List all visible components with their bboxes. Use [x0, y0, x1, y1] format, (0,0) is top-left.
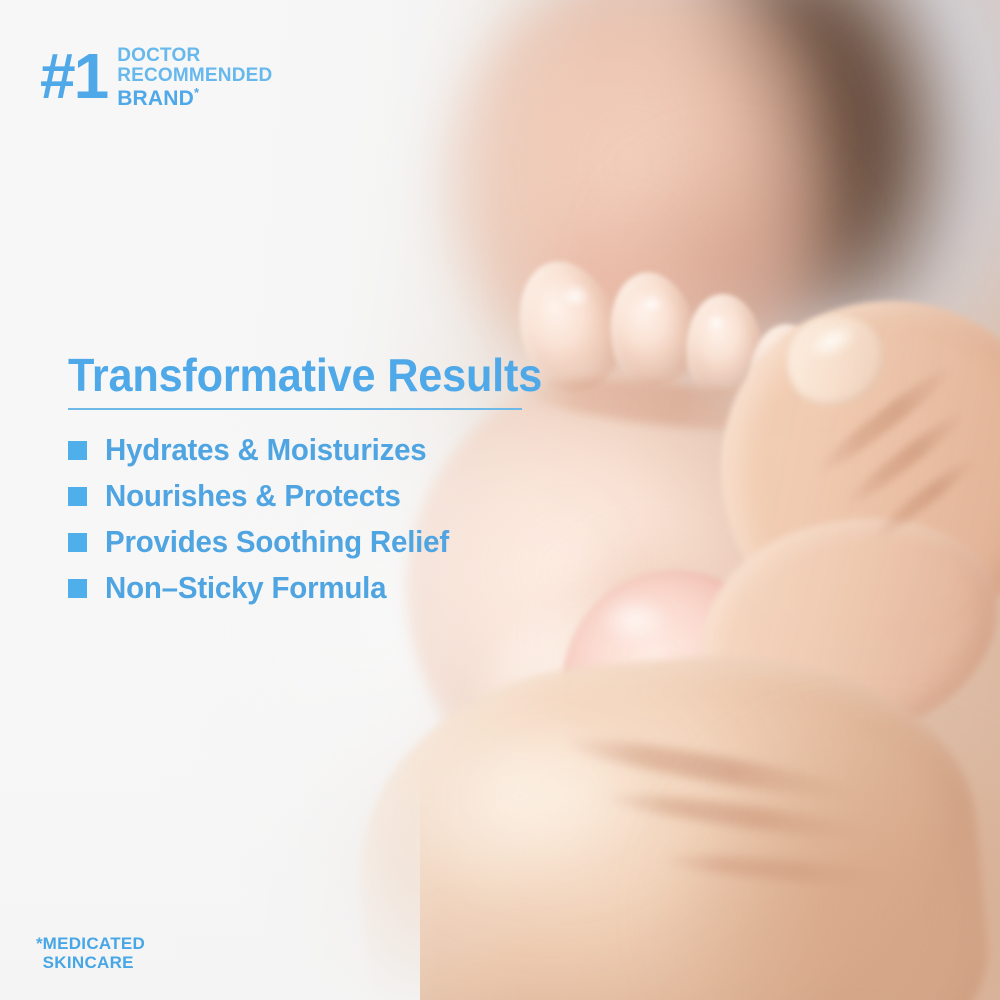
badge-line-brand: BRAND* [117, 86, 272, 110]
footnote-lines: MEDICATED SKINCARE [43, 934, 146, 972]
list-item: Non–Sticky Formula [68, 570, 467, 606]
overlay-content: #1 DOCTOR RECOMMENDED BRAND* Transformat… [0, 0, 1000, 1000]
footnote-line-skincare: SKINCARE [43, 953, 146, 972]
badge-line-doctor: DOCTOR [117, 46, 272, 66]
badge-line-recommended: RECOMMENDED [117, 66, 272, 86]
footnote: * MEDICATED SKINCARE [36, 934, 145, 972]
list-item: Nourishes & Protects [68, 478, 467, 514]
badge-brand-text: BRAND [117, 87, 194, 110]
list-item: Provides Soothing Relief [68, 524, 467, 560]
benefit-label: Nourishes & Protects [105, 478, 401, 514]
footnote-line-medicated: MEDICATED [43, 934, 146, 953]
benefit-label: Provides Soothing Relief [105, 524, 449, 560]
list-item: Hydrates & Moisturizes [68, 432, 467, 468]
title-divider [68, 408, 522, 410]
square-bullet-icon [68, 579, 87, 598]
badge-asterisk: * [194, 85, 199, 100]
square-bullet-icon [68, 441, 87, 460]
ad-creative: #1 DOCTOR RECOMMENDED BRAND* Transformat… [0, 0, 1000, 1000]
square-bullet-icon [68, 487, 87, 506]
page-title: Transformative Results [68, 348, 542, 402]
benefits-list: Hydrates & Moisturizes Nourishes & Prote… [68, 432, 467, 606]
square-bullet-icon [68, 533, 87, 552]
badge-rank: #1 [40, 50, 107, 102]
footnote-asterisk: * [36, 934, 43, 953]
benefit-label: Hydrates & Moisturizes [105, 432, 427, 468]
badge-text-lines: DOCTOR RECOMMENDED BRAND* [117, 44, 272, 109]
doctor-recommended-badge: #1 DOCTOR RECOMMENDED BRAND* [40, 44, 272, 109]
benefit-label: Non–Sticky Formula [105, 570, 386, 606]
